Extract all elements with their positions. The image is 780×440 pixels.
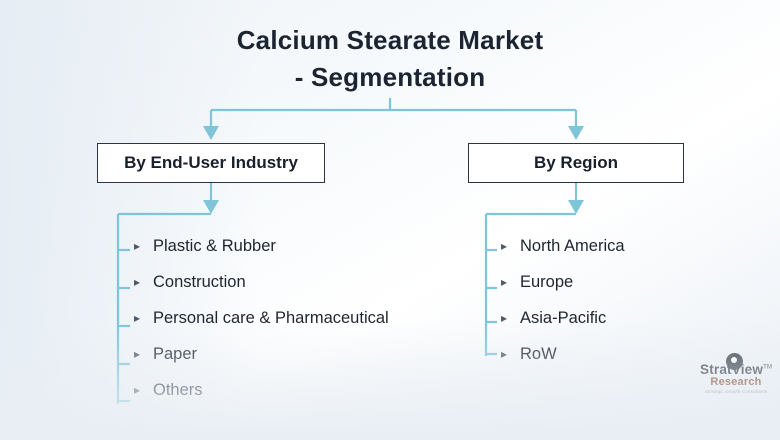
list-item-label: Plastic & Rubber [153, 237, 276, 256]
branch-box-by-region[interactable]: By Region [468, 143, 684, 183]
list-item[interactable]: ▸ RoW [497, 336, 625, 372]
list-item-label: Others [153, 381, 203, 400]
triangle-right-icon: ▸ [130, 384, 144, 396]
arrowhead-left [203, 126, 219, 140]
triangle-right-icon: ▸ [497, 312, 511, 324]
list-item[interactable]: ▸ Personal care & Pharmaceutical [130, 300, 389, 336]
list-item[interactable]: ▸ Construction [130, 264, 389, 300]
branch-box-by-end-user-industry[interactable]: By End-User Industry [97, 143, 325, 183]
arrowhead-right-list [568, 200, 584, 214]
logo-subtitle: Research [700, 377, 772, 389]
triangle-right-icon: ▸ [497, 348, 511, 360]
list-item[interactable]: ▸ Asia-Pacific [497, 300, 625, 336]
arrowhead-left-list [203, 200, 219, 214]
list-item[interactable]: ▸ Paper [130, 336, 389, 372]
logo-name: StratViewTM [700, 363, 772, 377]
branch-box-label: By Region [534, 153, 618, 173]
logo-tagline: Strategic Growth Consultants [700, 390, 772, 395]
diagram-canvas: Calcium Stearate Market - Segmentation B… [0, 0, 780, 440]
triangle-right-icon: ▸ [497, 276, 511, 288]
list-item[interactable]: ▸ Europe [497, 264, 625, 300]
triangle-right-icon: ▸ [130, 240, 144, 252]
arrowhead-right [568, 126, 584, 140]
list-item-label: Asia-Pacific [520, 309, 606, 328]
triangle-right-icon: ▸ [497, 240, 511, 252]
list-item[interactable]: ▸ Others [130, 372, 389, 408]
branch-box-label: By End-User Industry [124, 153, 298, 173]
list-item-label: Europe [520, 273, 573, 292]
leaf-list-by-region: ▸ North America ▸ Europe ▸ Asia-Pacific … [497, 228, 625, 372]
leaf-list-by-end-user-industry: ▸ Plastic & Rubber ▸ Construction ▸ Pers… [130, 228, 389, 408]
list-item-label: Construction [153, 273, 246, 292]
title-line-2: - Segmentation [0, 59, 780, 96]
triangle-right-icon: ▸ [130, 348, 144, 360]
list-item-label: North America [520, 237, 625, 256]
diagram-title: Calcium Stearate Market - Segmentation [0, 22, 780, 96]
list-item[interactable]: ▸ Plastic & Rubber [130, 228, 389, 264]
title-line-1: Calcium Stearate Market [0, 22, 780, 59]
logo-tm: TM [763, 365, 772, 371]
stratview-research-logo: StratViewTM Research Strategic Growth Co… [700, 363, 772, 395]
triangle-right-icon: ▸ [130, 276, 144, 288]
list-item-label: Paper [153, 345, 197, 364]
list-item[interactable]: ▸ North America [497, 228, 625, 264]
list-item-label: Personal care & Pharmaceutical [153, 309, 389, 328]
triangle-right-icon: ▸ [130, 312, 144, 324]
list-item-label: RoW [520, 345, 557, 364]
